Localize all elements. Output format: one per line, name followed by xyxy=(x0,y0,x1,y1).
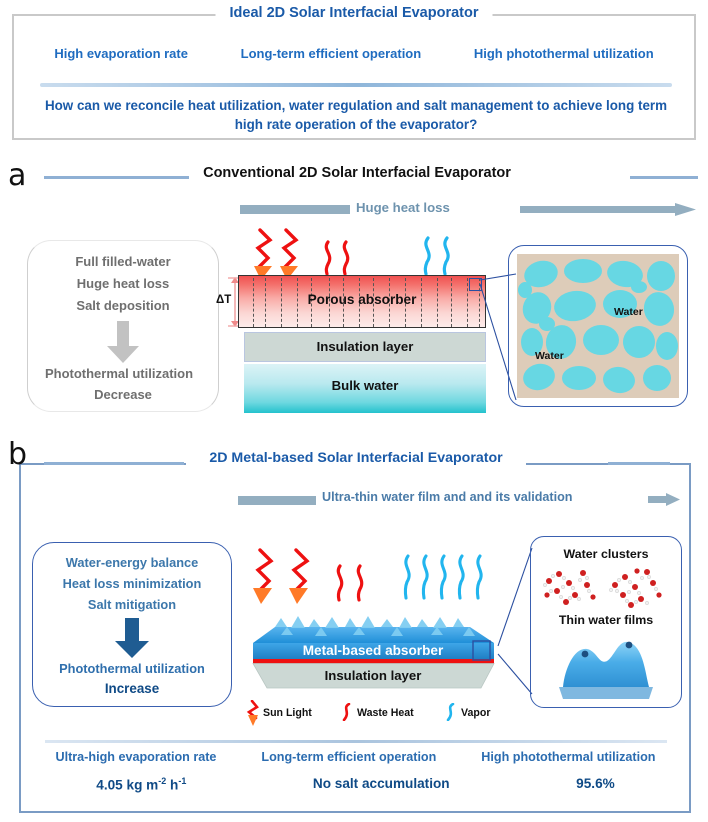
panel-b-legend: Sun Light Waste Heat Vapor xyxy=(243,700,513,726)
legend-label-sunlight: Sun Light xyxy=(263,707,312,719)
zoom-a-water-label-1: Water xyxy=(614,306,643,318)
metal-absorber-label: Metal-based absorber xyxy=(303,643,444,658)
ideal-box-title: Ideal 2D Solar Interfacial Evaporator xyxy=(215,5,492,21)
card-b-line-3: Salt mitigation xyxy=(33,597,231,612)
result-value-utilization: 95.6% xyxy=(576,776,615,793)
card-a-line-1: Full filled-water xyxy=(28,254,218,269)
card-a-line-3: Salt deposition xyxy=(28,298,218,313)
card-b-line-2: Heat loss minimization xyxy=(33,576,231,591)
panel-b-summary-card: Water-energy balance Heat loss minimizat… xyxy=(32,542,232,707)
result-value-operation: No salt accumulation xyxy=(313,776,450,793)
ideal-tag-evaporation-rate: High evaporation rate xyxy=(54,46,188,61)
bulk-water-label: Bulk water xyxy=(244,378,486,393)
ideal-question-text: How can we reconcile heat utilization, w… xyxy=(38,96,674,135)
cluster-left xyxy=(543,570,595,605)
ideal-evaporator-box: Ideal 2D Solar Interfacial Evaporator Hi… xyxy=(12,14,696,140)
metal-evaporator-3d-graphic: Metal-based absorber Insulation layer xyxy=(245,585,500,690)
result-value-evaporation-rate: 4.05 kg m-2 h-1 xyxy=(96,776,186,793)
panel-a-zoom-card: Water Water xyxy=(508,245,688,407)
down-arrow-blue-icon xyxy=(114,618,150,658)
insulation-layer-label-a: Insulation layer xyxy=(245,339,485,354)
thin-water-films-title: Thin water films xyxy=(531,613,681,627)
panel-b-rule-right xyxy=(608,462,670,465)
card-b-line-5: Increase xyxy=(33,681,231,696)
results-divider xyxy=(45,740,667,743)
water-cluster-molecules-graphic xyxy=(539,565,675,611)
water-film-arrow-icon xyxy=(648,493,680,506)
water-film-bar xyxy=(238,496,316,505)
heat-loss-arrow-icon xyxy=(520,203,696,216)
card-a-line-2: Huge heat loss xyxy=(28,276,218,291)
zoom-a-water-label-2: Water xyxy=(535,350,564,362)
card-a-line-4: Photothermal utilization xyxy=(24,366,214,381)
panel-a-summary-card: Full filled-water Huge heat loss Salt de… xyxy=(27,240,219,412)
pore-network-graphic xyxy=(517,254,679,398)
vapor-legend-icon xyxy=(443,703,457,721)
panel-b-rule-left xyxy=(44,462,184,465)
legend-label-vapor: Vapor xyxy=(461,707,490,719)
insulation-layer-label-b: Insulation layer xyxy=(325,668,422,683)
ideal-tag-row: High evaporation rate Long-term efficien… xyxy=(14,46,694,61)
water-film-label: Ultra-thin water film and and its valida… xyxy=(322,490,573,504)
heat-loss-label: Huge heat loss xyxy=(356,200,450,215)
result-header-evaporation-rate: Ultra-high evaporation rate xyxy=(55,750,216,764)
card-b-line-4: Photothermal utilization xyxy=(33,661,231,676)
result-header-operation: Long-term efficient operation xyxy=(261,750,436,764)
waste-heat-wave-icon xyxy=(326,242,347,274)
metal-layer-line xyxy=(253,659,494,664)
panel-b-zoom-card: Water clusters xyxy=(530,536,682,708)
card-a-line-5: Decrease xyxy=(28,387,218,402)
water-film-dot-1 xyxy=(582,651,589,658)
ideal-tag-efficient-operation: Long-term efficient operation xyxy=(241,46,422,61)
result-header-utilization: High photothermal utilization xyxy=(481,750,655,764)
water-film-dot-2 xyxy=(626,642,633,649)
heat-loss-bar xyxy=(240,205,350,214)
panel-b-title: 2D Metal-based Solar Interfacial Evapora… xyxy=(186,450,526,466)
results-header-row: Ultra-high evaporation rate Long-term ef… xyxy=(33,750,678,764)
results-summary: Ultra-high evaporation rate Long-term ef… xyxy=(33,740,678,802)
panel-a-flux-arrows xyxy=(250,228,500,280)
panel-b-letter: b xyxy=(8,437,27,472)
ideal-tag-photothermal-utilization: High photothermal utilization xyxy=(474,46,654,61)
legend-label-waste-heat: Waste Heat xyxy=(357,707,414,719)
sunlight-zigzag-icon xyxy=(258,230,296,268)
porous-absorber-layer: Porous absorber xyxy=(238,275,486,328)
porous-microstructure-image xyxy=(517,254,679,398)
porous-absorber-label: Porous absorber xyxy=(239,292,485,307)
card-b-line-1: Water-energy balance xyxy=(33,555,231,570)
bulk-water-layer: Bulk water xyxy=(244,364,486,413)
ideal-divider xyxy=(40,83,672,87)
results-value-row: 4.05 kg m-2 h-1 No salt accumulation 95.… xyxy=(33,776,678,793)
vapor-wave-icon xyxy=(425,238,448,274)
insulation-layer-a: Insulation layer xyxy=(244,332,486,362)
panel-a-rule-left xyxy=(44,176,189,179)
thin-water-film-3d-graphic xyxy=(549,629,665,703)
down-arrow-gray-icon xyxy=(106,321,140,363)
panel-a-rule-right xyxy=(630,176,698,179)
sunlight-legend-icon xyxy=(243,700,259,726)
panel-a-title: Conventional 2D Solar Interfacial Evapor… xyxy=(192,165,522,181)
panel-b-schematic: Metal-based absorber Insulation layer xyxy=(245,585,500,690)
water-clusters-title: Water clusters xyxy=(531,547,681,561)
waste-heat-legend-icon xyxy=(339,703,353,721)
panel-a-schematic: Porous absorber Insulation layer Bulk wa… xyxy=(238,275,486,413)
zoom-connector-b xyxy=(492,546,534,696)
cluster-right xyxy=(609,568,661,608)
panel-a-letter: a xyxy=(8,158,26,193)
